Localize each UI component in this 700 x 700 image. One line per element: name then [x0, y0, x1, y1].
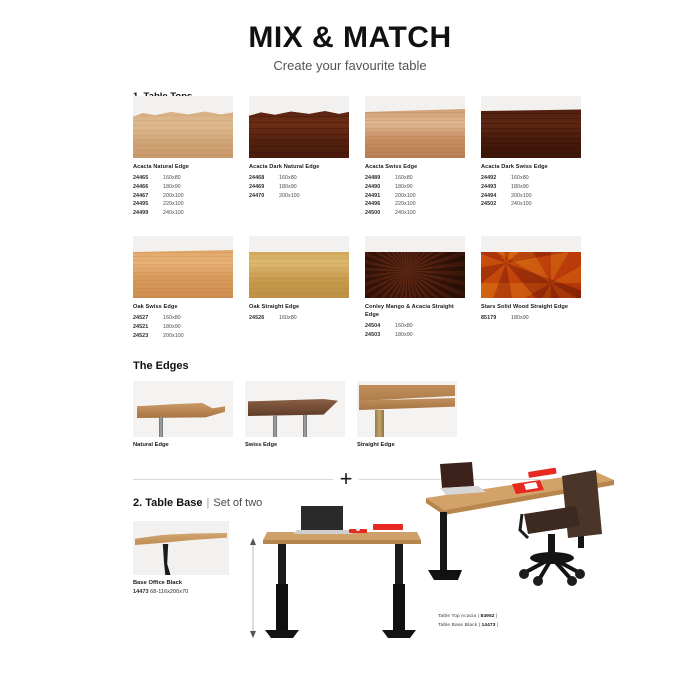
sku-code: 24526: [249, 314, 279, 323]
sku-code: 24503: [365, 331, 395, 340]
edge-label: Natural Edge: [133, 442, 233, 448]
swiss-edge-slab: [248, 399, 338, 416]
metal-leg: [303, 415, 307, 437]
sku-code: 24489: [365, 174, 395, 183]
wood-texture-oak-straight: [249, 248, 349, 298]
scene-desk-foot-left: [428, 570, 462, 580]
sku-code: 24469: [249, 183, 279, 192]
sku-code: 24467: [133, 192, 163, 201]
sku-row: 24469180x90: [249, 183, 349, 192]
height-arrow-up: [250, 538, 256, 545]
desk-leg-lower-left: [276, 584, 288, 630]
sku-dimension: 180x90: [279, 183, 297, 192]
heading-separator: |: [207, 497, 210, 509]
sku-code: 24494: [481, 192, 511, 201]
table-tops-row-2: Oak Swiss Edge 24527160x80 24521180x90 2…: [133, 236, 585, 340]
edge-photo: [357, 381, 457, 437]
edge-label: Swiss Edge: [245, 442, 345, 448]
sku-dimension: 160x80: [511, 174, 529, 183]
edge-card-straight[interactable]: Straight Edge: [357, 381, 457, 448]
sku-code: 24527: [133, 314, 163, 323]
scene-caption-label-1: Table Top Acacia: [438, 614, 476, 619]
table-base-heading-number: 2. Table Base: [133, 497, 203, 509]
sku-dimension: 200x100: [511, 192, 532, 201]
sku-row: 85179180x90: [481, 314, 581, 323]
sku-row: 24494200x100: [481, 192, 581, 201]
sku-dimension: 180x90: [163, 323, 181, 332]
desk-foot-left: [265, 630, 299, 638]
sku-list: 24492160x80 24493180x90 24494200x100 245…: [481, 174, 581, 209]
sku-row: 24495220x100: [133, 200, 233, 209]
sku-list: 85179180x90: [481, 314, 581, 323]
white-mouse: [356, 527, 360, 531]
scene-caption-line-2: Table Base Black | 14473 |: [438, 621, 498, 630]
product-card[interactable]: Acacia Dark Natural Edge 24468160x80 244…: [249, 96, 349, 218]
edge-photo: [133, 381, 233, 437]
sku-code: 24491: [365, 192, 395, 201]
natural-edge-slab: [137, 403, 225, 418]
desk-top-edge: [263, 540, 421, 544]
edge-photo: [245, 381, 345, 437]
sku-dimension: 200x100: [163, 192, 184, 201]
sku-row: 24490180x90: [365, 183, 465, 192]
sku-code: 24502: [481, 200, 511, 209]
laptop-keyboard: [293, 530, 353, 534]
sku-row: 24496220x100: [365, 200, 465, 209]
sku-code: 24495: [133, 200, 163, 209]
metal-leg: [159, 417, 163, 437]
sku-dimension: 160x80: [279, 314, 297, 323]
sku-row: 24523200x100: [133, 332, 233, 341]
base-product-sku: 14473 68-116x200x70: [133, 589, 188, 595]
base-product-name: Base Office Black: [133, 580, 182, 586]
wood-texture-acacia-dark-natural: [249, 110, 349, 158]
product-name: Acacia Swiss Edge: [365, 163, 465, 171]
sku-row: 24470200x100: [249, 192, 349, 201]
sku-list: 24527160x80 24521180x90 24523200x100: [133, 314, 233, 340]
base-photo-tabletop: [135, 533, 227, 546]
sku-code: 24499: [133, 209, 163, 218]
sku-row: 24503180x90: [365, 331, 465, 340]
sku-row: 24521180x90: [133, 323, 233, 332]
sku-dimension: 240x100: [511, 200, 532, 209]
page-subtitle: Create your favourite table: [0, 58, 700, 73]
sku-dimension: 160x80: [395, 322, 413, 331]
product-card[interactable]: Conley Mango & Acacia Straight Edge 2450…: [365, 236, 465, 340]
product-name: Stars Solid Wood Straight Edge: [481, 303, 581, 311]
sku-list: 24465160x80 24466180x90 24467200x100 244…: [133, 174, 233, 218]
sku-dimension: 160x80: [163, 174, 181, 183]
scene-caption-bar: |: [496, 614, 497, 619]
wood-texture-acacia-swiss: [365, 108, 465, 158]
sku-row: 24502240x100: [481, 200, 581, 209]
sku-row: 24489160x80: [365, 174, 465, 183]
product-card[interactable]: Acacia Swiss Edge 24489160x80 24490180x9…: [365, 96, 465, 218]
red-folder: [373, 524, 403, 530]
sku-code: 24465: [133, 174, 163, 183]
desk-foot-right: [382, 630, 416, 638]
sku-row: 24467200x100: [133, 192, 233, 201]
scene-caption: Table Top Acacia | 84952 | Table Base Bl…: [438, 612, 498, 631]
page-title: MIX & MATCH: [0, 22, 700, 54]
sku-dimension: 180x90: [395, 183, 413, 192]
sku-row: 24491200x100: [365, 192, 465, 201]
section-heading-table-base: 2. Table Base | Set of two: [133, 497, 262, 509]
base-dimensions: 68-116x200x70: [150, 589, 188, 595]
sku-dimension: 200x100: [163, 332, 184, 341]
product-swatch: [249, 236, 349, 298]
scene-desk-leg-left: [440, 512, 447, 570]
wood-texture-acacia-dark-swiss: [481, 108, 581, 158]
sku-code: 24490: [365, 183, 395, 192]
product-card[interactable]: Oak Straight Edge 24526160x80: [249, 236, 349, 340]
table-tops-row-1: Acacia Natural Edge 24465160x80 24466180…: [133, 96, 585, 218]
wood-texture-oak-swiss: [133, 248, 233, 298]
product-name: Acacia Natural Edge: [133, 163, 233, 171]
sku-row: 24499240x100: [133, 209, 233, 218]
product-swatch: [133, 96, 233, 158]
sku-code: 24468: [249, 174, 279, 183]
sku-code: 85179: [481, 314, 511, 323]
poster-header: MIX & MATCH Create your favourite table: [0, 0, 700, 73]
product-swatch: [249, 96, 349, 158]
sku-row: 24468160x80: [249, 174, 349, 183]
poster-page: MIX & MATCH Create your favourite table …: [0, 0, 700, 700]
product-name: Acacia Dark Natural Edge: [249, 163, 349, 171]
sku-row: 24504160x80: [365, 322, 465, 331]
sku-dimension: 160x80: [279, 174, 297, 183]
sku-list: 24489160x80 24490180x90 24491200x100 244…: [365, 174, 465, 218]
sku-dimension: 180x90: [395, 331, 413, 340]
sku-dimension: 160x80: [163, 314, 181, 323]
sku-row: 24465160x80: [133, 174, 233, 183]
sku-code: 24496: [365, 200, 395, 209]
product-swatch: [365, 96, 465, 158]
product-swatch: [365, 236, 465, 298]
metal-leg: [273, 415, 277, 437]
product-card[interactable]: Acacia Natural Edge 24465160x80 24466180…: [133, 96, 233, 218]
product-name: Oak Straight Edge: [249, 303, 349, 311]
sku-code: 24500: [365, 209, 395, 218]
brass-leg: [375, 410, 384, 437]
scene-caption-bar: |: [497, 623, 498, 628]
sku-dimension: 160x80: [395, 174, 413, 183]
sku-dimension: 180x90: [163, 183, 181, 192]
sku-code: 24492: [481, 174, 511, 183]
sku-code: 24521: [133, 323, 163, 332]
sku-row: 24527160x80: [133, 314, 233, 323]
base-sku-code: 14473: [133, 589, 149, 595]
plus-icon: +: [333, 466, 359, 492]
sku-dimension: 240x100: [395, 209, 416, 218]
section-heading-edges: The Edges: [133, 360, 189, 372]
scene-caption-bar: |: [478, 614, 479, 619]
base-product-photo[interactable]: [133, 521, 229, 575]
base-photo-leg: [161, 544, 171, 575]
sku-code: 24493: [481, 183, 511, 192]
scene-caption-sku-2: 14473: [481, 623, 495, 628]
sku-code: 24523: [133, 332, 163, 341]
sku-dimension: 180x90: [511, 183, 529, 192]
sku-dimension: 200x100: [279, 192, 300, 201]
sku-row: 24526160x80: [249, 314, 349, 323]
sku-code: 24466: [133, 183, 163, 192]
scene-caption-line-1: Table Top Acacia | 84952 |: [438, 612, 498, 621]
scene-red-folder: [528, 468, 557, 478]
product-name: Conley Mango & Acacia Straight Edge: [365, 303, 465, 319]
product-name: Oak Swiss Edge: [133, 303, 233, 311]
sku-row: 24492160x80: [481, 174, 581, 183]
edge-label: Straight Edge: [357, 442, 457, 448]
edge-card-natural[interactable]: Natural Edge: [133, 381, 233, 448]
sku-dimension: 240x100: [163, 209, 184, 218]
height-arrow-down: [250, 631, 256, 638]
sku-dimension: 200x100: [395, 192, 416, 201]
sku-dimension: 220x100: [163, 200, 184, 209]
wood-texture-stars-solid-wood: [481, 248, 581, 298]
product-card[interactable]: Oak Swiss Edge 24527160x80 24521180x90 2…: [133, 236, 233, 340]
product-card[interactable]: Acacia Dark Swiss Edge 24492160x80 24493…: [481, 96, 581, 218]
sku-dimension: 220x100: [395, 200, 416, 209]
product-swatch: [133, 236, 233, 298]
scene-caption-bar: |: [479, 623, 480, 628]
scene-laptop-screen: [440, 462, 474, 488]
desk-leg-upper-left: [278, 544, 286, 586]
product-name: Acacia Dark Swiss Edge: [481, 163, 581, 171]
product-card[interactable]: Stars Solid Wood Straight Edge 85179180x…: [481, 236, 581, 340]
wood-texture-acacia-natural: [133, 110, 233, 158]
sku-code: 24470: [249, 192, 279, 201]
laptop-screen: [301, 506, 343, 530]
edges-gallery: Natural Edge Swiss Edge Straight Edge: [133, 381, 473, 448]
sku-list: 24526160x80: [249, 314, 349, 323]
sku-row: 24466180x90: [133, 183, 233, 192]
edge-card-swiss[interactable]: Swiss Edge: [245, 381, 345, 448]
sku-list: 24504160x80 24503180x90: [365, 322, 465, 340]
sku-row: 24500240x100: [365, 209, 465, 218]
sku-dimension: 180x90: [511, 314, 529, 323]
product-swatch: [481, 96, 581, 158]
sku-list: 24468160x80 24469180x90 24470200x100: [249, 174, 349, 200]
scene-caption-sku-1: 84952: [481, 614, 495, 619]
wood-texture-conley-mango-acacia: [365, 248, 465, 298]
office-scene-illustration: [400, 462, 690, 612]
sku-code: 24504: [365, 322, 395, 331]
sku-row: 24493180x90: [481, 183, 581, 192]
scene-caption-label-2: Table Base Black: [438, 623, 477, 628]
product-swatch: [481, 236, 581, 298]
